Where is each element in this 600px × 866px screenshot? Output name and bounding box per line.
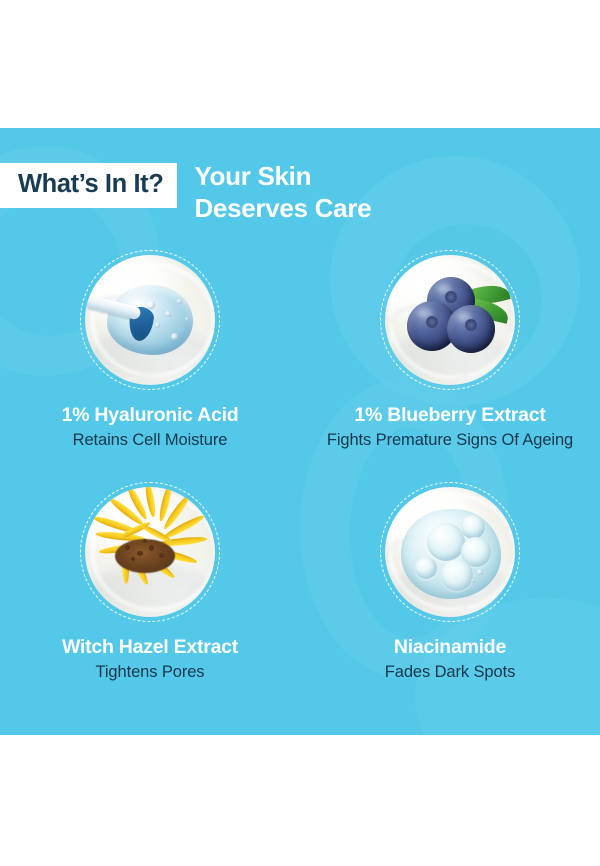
section-badge: What’s In It? [0, 163, 177, 208]
ingredients-panel: What’s In It? Your Skin Deserves Care [0, 128, 600, 735]
ingredient-card-niacinamide[interactable]: Niacinamide Fades Dark Spots [300, 482, 600, 682]
niacinamide-bubbles-icon [380, 482, 520, 622]
ingredient-card-hyaluronic-acid[interactable]: 1% Hyaluronic Acid Retains Cell Moisture [0, 250, 300, 450]
ingredient-subtitle: Retains Cell Moisture [62, 431, 239, 450]
ingredient-row: 1% Hyaluronic Acid Retains Cell Moisture [0, 250, 600, 450]
ingredient-caption: Niacinamide Fades Dark Spots [385, 636, 515, 682]
ingredient-title: Niacinamide [385, 636, 515, 659]
witch-hazel-flower-icon [80, 482, 220, 622]
ingredient-subtitle: Fights Premature Signs Of Ageing [327, 431, 573, 450]
page-title: Your Skin Deserves Care [194, 161, 371, 224]
header: What’s In It? Your Skin Deserves Care [0, 163, 600, 245]
ingredient-caption: 1% Hyaluronic Acid Retains Cell Moisture [62, 404, 239, 450]
ingredient-subtitle: Tightens Pores [62, 663, 238, 682]
ingredient-title: 1% Blueberry Extract [327, 404, 573, 427]
blueberries-icon [380, 250, 520, 390]
ingredient-grid: 1% Hyaluronic Acid Retains Cell Moisture [0, 250, 600, 683]
ingredient-title: 1% Hyaluronic Acid [62, 404, 239, 427]
ingredient-card-witch-hazel-extract[interactable]: Witch Hazel Extract Tightens Pores [0, 482, 300, 682]
ingredient-row: Witch Hazel Extract Tightens Pores [0, 482, 600, 682]
ingredient-title: Witch Hazel Extract [62, 636, 238, 659]
ingredient-subtitle: Fades Dark Spots [385, 663, 515, 682]
ingredient-caption: 1% Blueberry Extract Fights Premature Si… [327, 404, 573, 450]
hyaluronic-gel-drop-icon [80, 250, 220, 390]
ingredient-card-blueberry-extract[interactable]: 1% Blueberry Extract Fights Premature Si… [300, 250, 600, 450]
ingredient-caption: Witch Hazel Extract Tightens Pores [62, 636, 238, 682]
